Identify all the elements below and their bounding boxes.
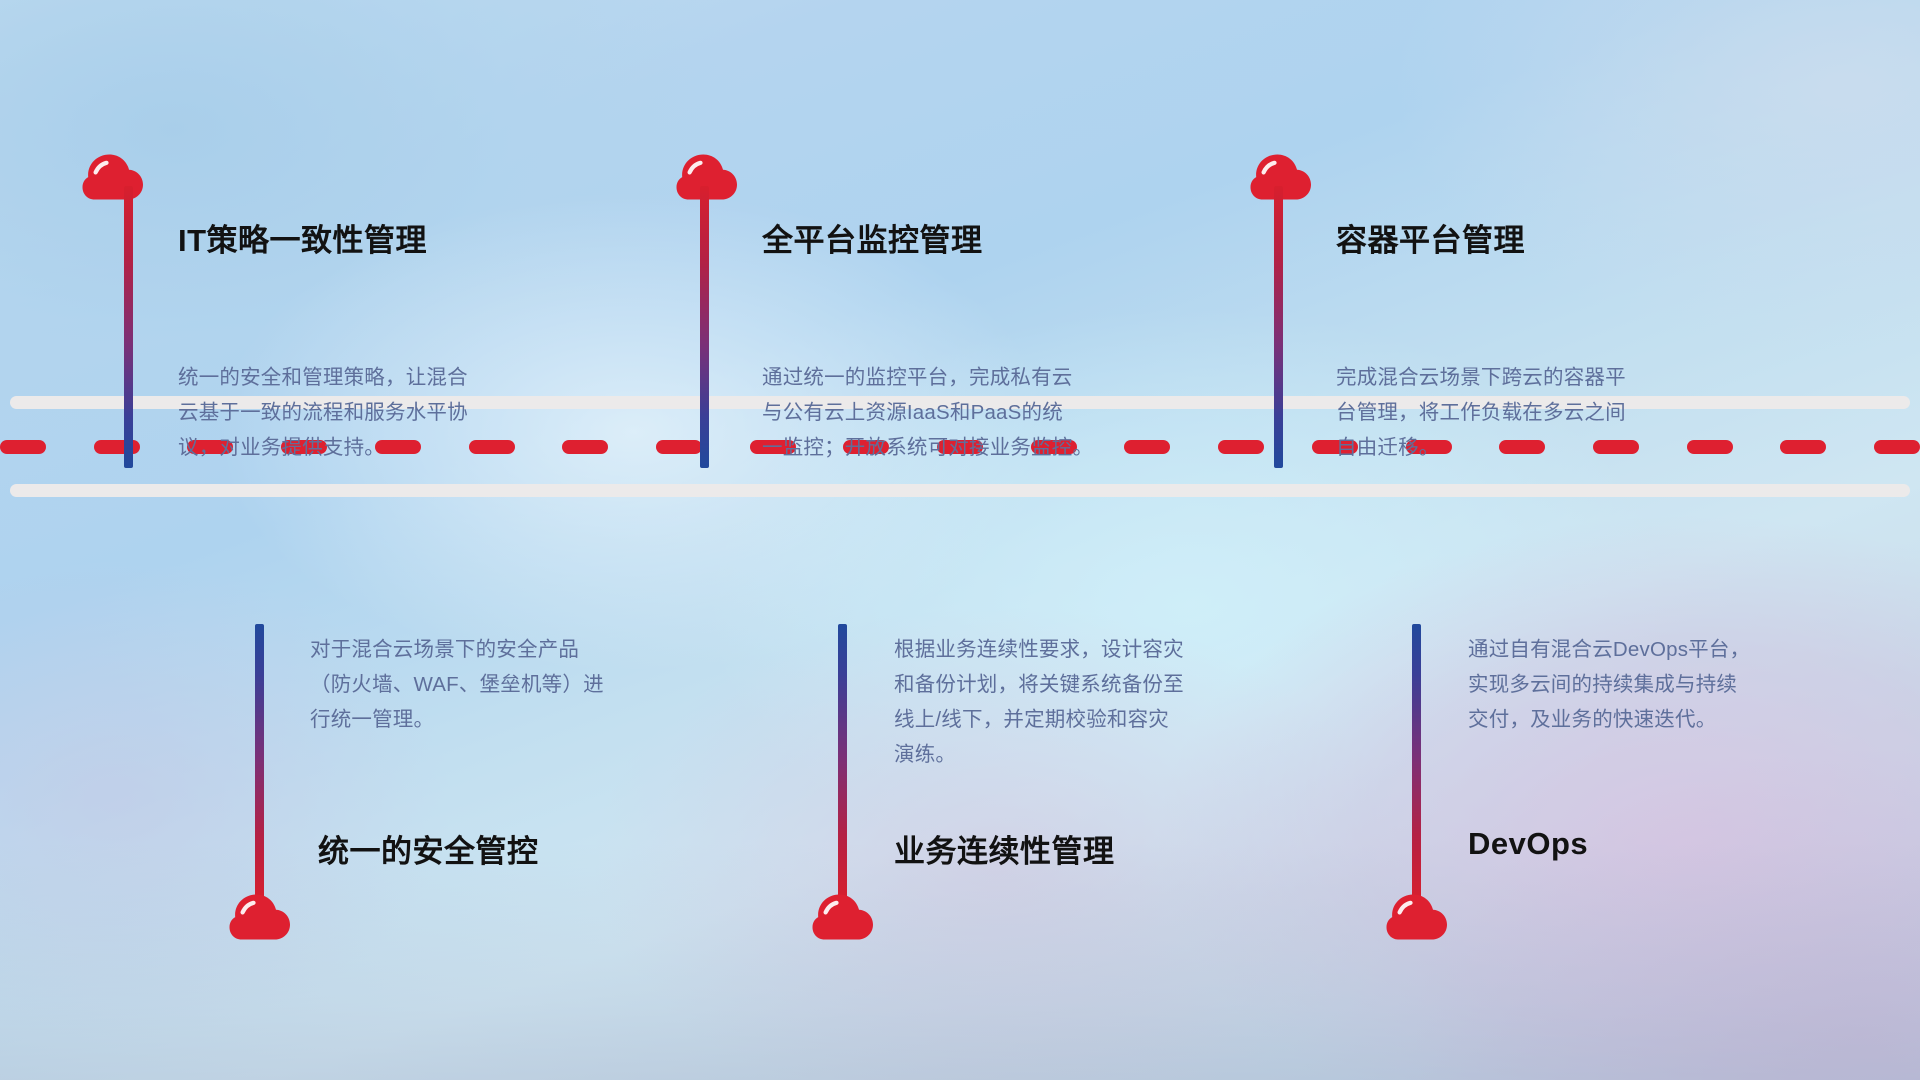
road-dash [656,440,702,454]
section-body-text: 根据业务连续性要求，设计容灾 和备份计划，将关键系统备份至 线上/线下，并定期校… [894,632,1324,772]
connector-stem [1274,186,1283,468]
road-dash [1780,440,1826,454]
connector-stem [838,624,847,902]
section-heading: 容器平台管理 [1336,215,1525,260]
road-edge-bottom [10,484,1910,497]
cloud-icon [229,894,291,940]
connector-stem [255,624,264,902]
connector-stem [124,186,133,468]
section-body-text: 完成混合云场景下跨云的容器平 台管理，将工作负载在多云之间 自由迁移。 [1336,360,1756,465]
section-heading: 业务连续性管理 [894,826,1115,871]
section-heading: DevOps [1468,826,1588,862]
section-heading: 统一的安全管控 [318,826,539,871]
section-body-text: 通过自有混合云DevOps平台， 实现多云间的持续集成与持续 交付，及业务的快速… [1468,632,1898,737]
section-body-text: 统一的安全和管理策略，让混合 云基于一致的流程和服务水平协 议，对业务提供支持。 [178,360,598,465]
road-dash [1218,440,1264,454]
section-heading: 全平台监控管理 [762,215,983,260]
cloud-icon [82,154,144,200]
road-dash [94,440,140,454]
cloud-icon [812,894,874,940]
connector-stem [1412,624,1421,902]
connector-stem [700,186,709,468]
section-body-text: 通过统一的监控平台，完成私有云 与公有云上资源IaaS和PaaS的统 一监控；开… [762,360,1192,465]
infographic-canvas: IT策略一致性管理 统一的安全和管理策略，让混合 云基于一致的流程和服务水平协 … [0,0,1920,1080]
cloud-icon [1386,894,1448,940]
road-dash [1874,440,1920,454]
road-dash [0,440,46,454]
section-body-text: 对于混合云场景下的安全产品 （防火墙、WAF、堡垒机等）进 行统一管理。 [310,632,740,737]
section-heading: IT策略一致性管理 [178,215,427,260]
